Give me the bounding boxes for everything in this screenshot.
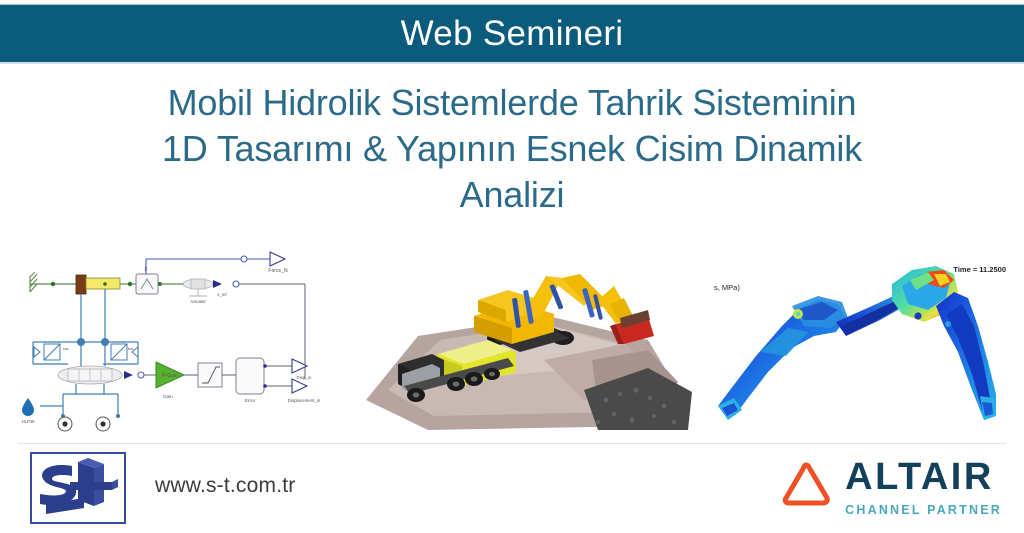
page-title: Mobil Hidrolik Sistemlerde Tahrik Sistem… (0, 74, 1024, 234)
hydraulic-schematic-svg: F Force_N Actuator x_r (8, 246, 338, 436)
label-fluid: HLP46 (22, 419, 35, 424)
website-url[interactable]: www.s-t.com.tr (155, 474, 295, 498)
company-logo[interactable] (30, 452, 126, 524)
label-actuator: Actuator (190, 299, 206, 304)
excavator-scene-svg (348, 240, 696, 440)
label-gain: Gain (163, 394, 173, 399)
title-line-2: 1D Tasarımı & Yapının Esnek Cisim Dinami… (162, 126, 862, 172)
altair-partner-logo[interactable]: ALTAIR CHANNEL PARTNER (779, 458, 1002, 517)
footer-divider (18, 443, 1006, 444)
svg-text:bar: bar (128, 346, 134, 351)
altair-wordmark: ALTAIR (845, 458, 1002, 496)
label-x-ref: x_ref (217, 292, 227, 297)
excavator-image (348, 240, 696, 440)
fluid-droplet-icon (22, 398, 34, 416)
footer: www.s-t.com.tr ALTAIR CHANNEL PARTNER (0, 446, 1024, 533)
fea-legend-label: s, MPa) (714, 283, 740, 292)
label-error: Error (245, 398, 256, 403)
altair-triangle-icon (779, 460, 833, 513)
altair-subtitle: CHANNEL PARTNER (845, 504, 1002, 517)
svg-text:Displ_in: Displ_in (297, 375, 313, 380)
schematic-image: F Force_N Actuator x_r (0, 240, 348, 440)
title-line-1: Mobil Hidrolik Sistemlerde Tahrik Sistem… (168, 80, 857, 126)
webinar-slide: Web Semineri Mobil Hidrolik Sistemlerde … (0, 0, 1024, 533)
label-force-out: Force_N (268, 268, 288, 274)
label-displacement-in: Displacement_in (288, 398, 321, 403)
st-monogram-icon (32, 454, 124, 522)
fea-contour-svg: s, MPa) Time = 11.2500 (696, 240, 1024, 440)
svg-text:bar: bar (63, 346, 69, 351)
illustration-row: F Force_N Actuator x_r (0, 240, 1024, 440)
banner-title: Web Semineri (401, 16, 624, 51)
fea-image: s, MPa) Time = 11.2500 (696, 240, 1024, 440)
fea-time-label: Time = 11.2500 (953, 265, 1006, 274)
svg-text:P-Gain: P-Gain (162, 373, 178, 379)
header-banner: Web Semineri (0, 4, 1024, 64)
title-line-3: Analizi (460, 172, 565, 218)
